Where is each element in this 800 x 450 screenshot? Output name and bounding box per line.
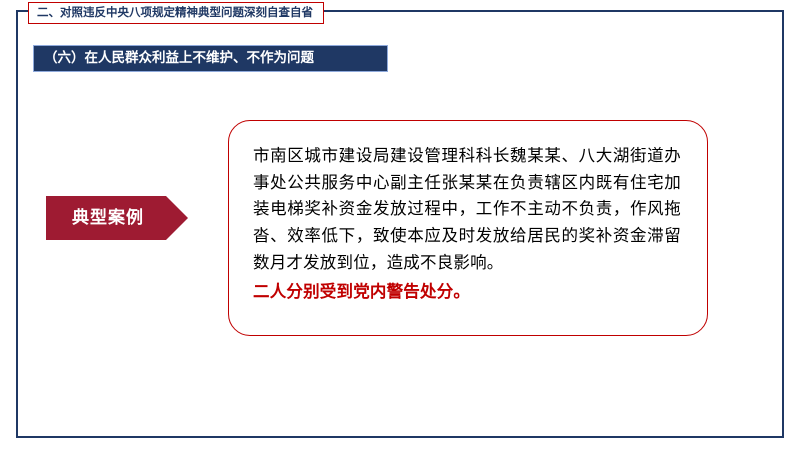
subsection-heading-bar: （六）在人民群众利益上不维护、不作为问题: [33, 45, 388, 72]
case-content-card: 市南区城市建设局建设管理科科长魏某某、八大湖街道办事处公共服务中心副主任张某某在…: [228, 120, 708, 336]
section-title-text: 二、对照违反中央八项规定精神典型问题深刻自查自省: [37, 7, 313, 19]
case-label-text: 典型案例: [46, 196, 170, 240]
subsection-heading-text: （六）在人民群众利益上不维护、不作为问题: [44, 52, 314, 66]
section-title-box: 二、对照违反中央八项规定精神典型问题深刻自查自省: [28, 2, 324, 24]
case-conclusion-text: 二人分别受到党内警告处分。: [253, 279, 681, 306]
case-label-banner: 典型案例: [46, 196, 188, 240]
slide-canvas: 二、对照违反中央八项规定精神典型问题深刻自查自省 （六）在人民群众利益上不维护、…: [0, 0, 800, 450]
case-body-paragraph: 市南区城市建设局建设管理科科长魏某某、八大湖街道办事处公共服务中心副主任张某某在…: [253, 143, 681, 277]
